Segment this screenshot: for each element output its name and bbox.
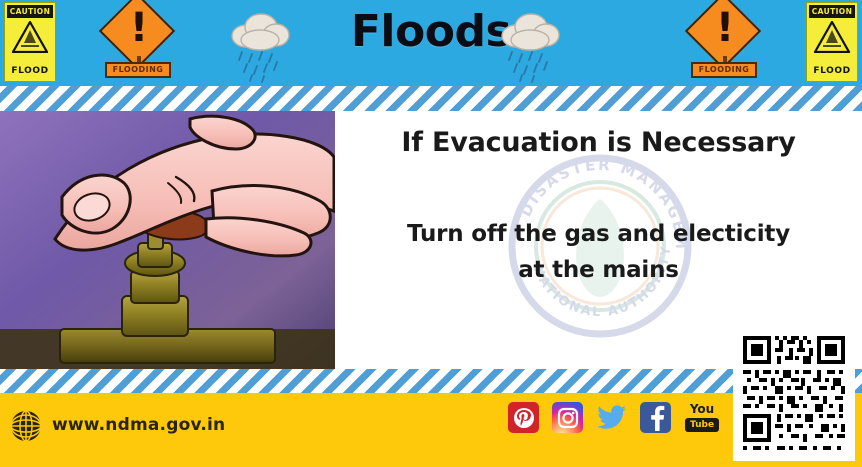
flooding-warning-sign-right: ! FLOODING [682,2,768,82]
striped-divider-top [0,86,862,111]
instagram-icon[interactable] [552,402,583,433]
pinterest-icon[interactable] [508,402,539,433]
instruction-message-line1: Turn off the gas and electicity [407,221,790,247]
twitter-icon[interactable] [596,402,627,433]
rain-cloud-icon-right [490,2,570,84]
social-links: You Tube [505,398,720,444]
globe-icon [10,410,42,442]
instruction-message-line2: at the mains [518,257,679,283]
instruction-headline: If Evacuation is Necessary [335,127,862,158]
caution-label-top: CAUTION [809,5,855,18]
caution-label-bottom: FLOOD [5,66,55,76]
poster-header: CAUTION FLOOD ! FLOODING [0,0,862,86]
exclamation-mark-icon: ! [682,6,768,50]
caution-flood-sign-right: CAUTION FLOOD [806,2,858,82]
flooding-plaque-label: FLOODING [105,62,171,78]
youtube-icon[interactable]: You Tube [684,402,720,433]
caution-label-bottom: FLOOD [807,66,857,76]
youtube-label-you: You [684,403,720,416]
flooding-plaque-label: FLOODING [691,62,757,78]
facebook-icon[interactable] [640,402,671,433]
website-url[interactable]: www.ndma.gov.in [52,415,225,435]
youtube-label-tube: Tube [685,418,719,432]
flood-awareness-poster: CAUTION FLOOD ! FLOODING [0,0,862,467]
instruction-message: Turn off the gas and electicity at the m… [341,216,856,288]
warning-triangle-icon [814,21,850,53]
qr-code[interactable] [733,318,855,461]
hand-turning-gas-valve-illustration [0,111,335,369]
